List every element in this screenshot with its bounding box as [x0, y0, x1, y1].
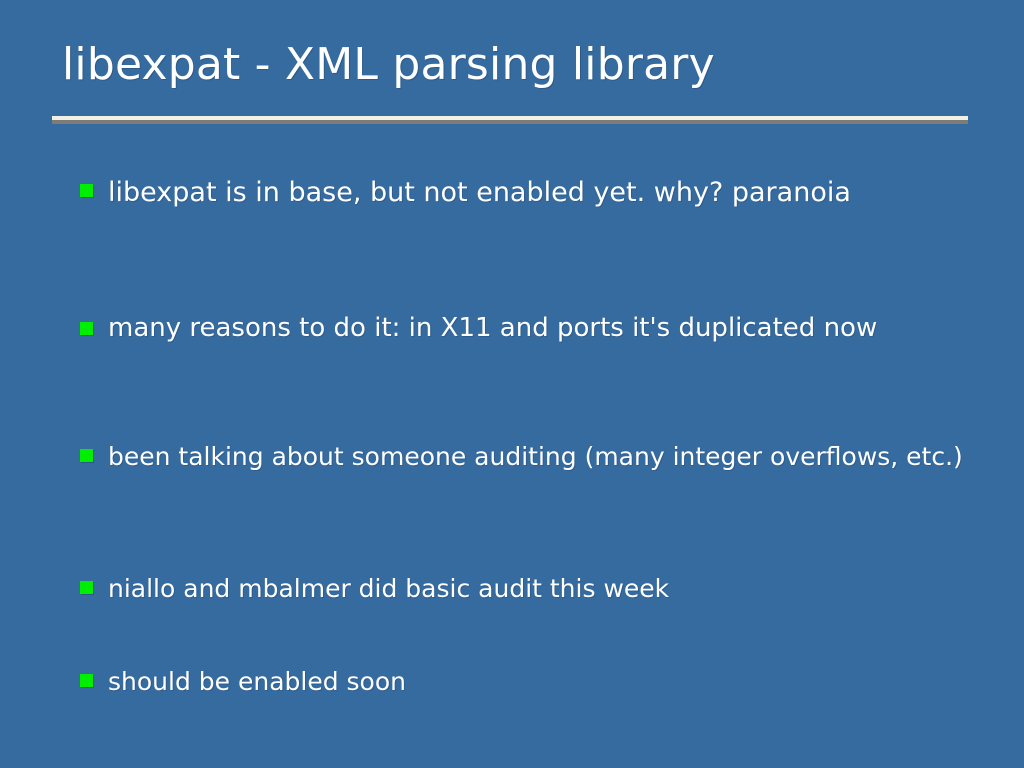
list-item: many reasons to do it: in X11 and ports … [80, 310, 988, 347]
title-block: libexpat - XML parsing library [52, 38, 972, 92]
list-item-label: been talking about someone auditing (man… [108, 436, 988, 478]
list-item: niallo and mbalmer did basic audit this … [80, 568, 988, 610]
bullet-square-icon [80, 449, 93, 462]
bullet-square-icon [80, 322, 93, 335]
list-item-label: libexpat is in base, but not enabled yet… [108, 168, 988, 217]
list-item-label: many reasons to do it: in X11 and ports … [108, 310, 988, 347]
list-item-label: should be enabled soon [108, 661, 988, 703]
list-item: libexpat is in base, but not enabled yet… [80, 168, 988, 217]
presentation-slide: libexpat - XML parsing library libexpat … [0, 0, 1024, 768]
bullet-square-icon [80, 184, 93, 197]
bullet-square-icon [80, 674, 93, 687]
list-item-label: niallo and mbalmer did basic audit this … [108, 568, 988, 610]
list-item: been talking about someone auditing (man… [80, 436, 988, 478]
title-underline-shadow [52, 120, 968, 124]
bullet-square-icon [80, 581, 93, 594]
list-item: should be enabled soon [80, 661, 988, 703]
page-title: libexpat - XML parsing library [52, 38, 972, 92]
